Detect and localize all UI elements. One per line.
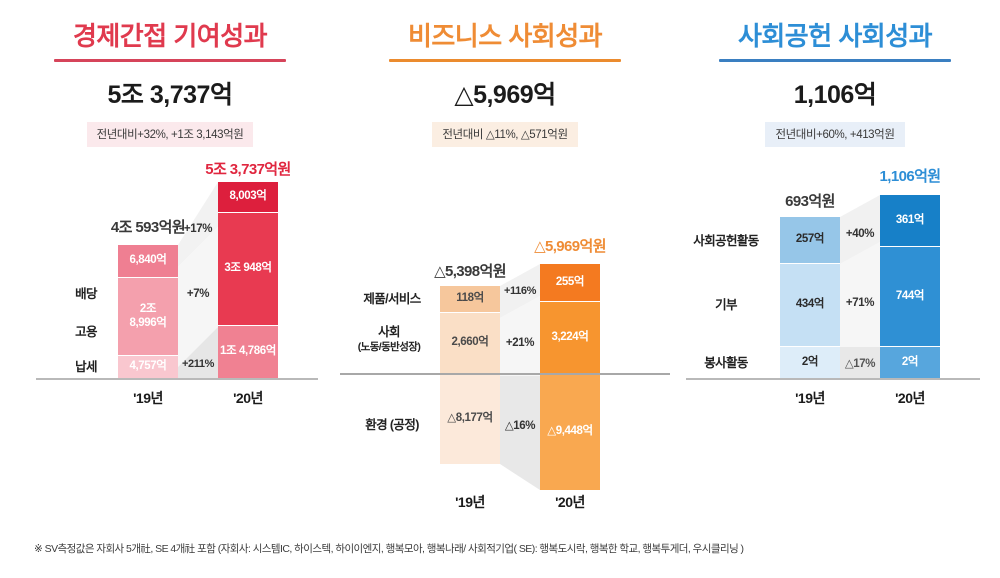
bar-curr-value-1: 3,224억 xyxy=(552,331,589,345)
growth-label-0: +40% xyxy=(840,228,880,240)
chart-business: 118억 2,660억 △8,177억 255억 3,224억 △9,448억 … xyxy=(340,0,670,520)
year-label-curr: '20년 xyxy=(218,388,278,408)
category-label-0: 제품/서비스 xyxy=(346,292,438,308)
bar-prev-value-0: 257억 xyxy=(796,233,824,247)
total-curr-label: 1,106억원 xyxy=(840,165,980,186)
chart-economic: 6,840억 2조8,996억 4,757억 8,003억 3조 948억 1조… xyxy=(0,0,340,520)
bar-prev-value-1: 2,660억 xyxy=(452,336,489,350)
panel-economic-indirect: 경제간접 기여성과 5조 3,737억 전년대비+32%, +1조 3,143억… xyxy=(0,0,340,520)
bar-curr-value-0: 8,003억 xyxy=(230,190,267,204)
bar-prev-seg-1: 2,660억 xyxy=(440,313,500,373)
year-label-prev: '19년 xyxy=(440,492,500,512)
growth-label-1: +71% xyxy=(840,297,880,309)
bar-prev-value-0: 6,840억 xyxy=(130,254,167,268)
category-label-1-sub: (노동/동반성장) xyxy=(340,341,438,354)
total-prev-label: 693억원 xyxy=(740,190,880,211)
category-label-1: 기부 xyxy=(676,298,776,314)
bar-curr-value-2: 2억 xyxy=(902,356,918,370)
year-label-prev: '19년 xyxy=(780,388,840,408)
bar-curr-seg-0: 8,003억 xyxy=(218,182,278,213)
bar-curr-seg-1: 3조 948억 xyxy=(218,213,278,326)
bar-prev-seg-2: 4,757억 xyxy=(118,356,178,378)
bar-prev-value-2: △8,177억 xyxy=(447,412,492,426)
category-label-1: 고용 xyxy=(58,325,114,341)
bar-curr-value-1: 744억 xyxy=(896,290,924,304)
total-prev-label: △5,398억원 xyxy=(400,260,540,281)
connector-band xyxy=(840,195,880,378)
growth-label-0: +116% xyxy=(496,285,544,297)
total-curr-label: △5,969억원 xyxy=(500,235,640,256)
connector-band xyxy=(500,264,540,490)
bar-curr-seg-0: 361억 xyxy=(880,195,940,247)
year-label-prev: '19년 xyxy=(118,388,178,408)
total-curr-label: 5조 3,737억원 xyxy=(178,158,318,179)
growth-label-2: △17% xyxy=(840,356,880,370)
bar-prev-seg-2: 2억 xyxy=(780,347,840,378)
category-label-0: 배당 xyxy=(58,287,114,303)
year-label-curr: '20년 xyxy=(880,388,940,408)
bar-curr-seg-2: 1조 4,786억 xyxy=(218,326,278,378)
bar-prev-value-1: 434억 xyxy=(796,298,824,312)
growth-label-1: +7% xyxy=(178,288,218,300)
bar-curr-seg-1: 744억 xyxy=(880,247,940,347)
footnote: ※ SV측정값은 자회사 5개社, SE 4개社 포함 (자회사: 시스템IC,… xyxy=(34,541,984,556)
bar-curr-value-1: 3조 948억 xyxy=(224,262,271,276)
growth-label-2: △16% xyxy=(500,418,540,432)
bar-curr-value-2: △9,448억 xyxy=(547,425,592,439)
axis-zero-line xyxy=(340,373,670,375)
bar-curr-seg-2: △9,448억 xyxy=(540,374,600,490)
bar-prev-value-2: 4,757억 xyxy=(130,360,167,374)
infographic-panels: 경제간접 기여성과 5조 3,737억 전년대비+32%, +1조 3,143억… xyxy=(0,0,1000,520)
category-label-1: 사회 (노동/동반성장) xyxy=(340,325,438,354)
category-label-1-main: 사회 xyxy=(378,325,400,339)
bar-prev-seg-0: 118억 xyxy=(440,286,500,313)
total-prev-label: 4조 593억원 xyxy=(78,216,218,237)
chart-social: 257억 434억 2억 361억 744억 2억 +40% +71% △17%… xyxy=(670,0,1000,520)
bar-curr-value-2: 1조 4,786억 xyxy=(220,345,276,359)
category-label-2: 환경 (공정) xyxy=(346,418,438,434)
axis-baseline xyxy=(36,378,318,380)
bar-curr-seg-0: 255억 xyxy=(540,264,600,302)
bar-prev-seg-0: 6,840억 xyxy=(118,245,178,278)
year-label-curr: '20년 xyxy=(540,492,600,512)
connector-band xyxy=(178,182,218,378)
category-label-0: 사회공헌활동 xyxy=(676,234,776,250)
growth-label-2: +211% xyxy=(176,358,220,370)
axis-baseline xyxy=(686,378,980,380)
bar-prev-seg-1: 2조8,996억 xyxy=(118,278,178,356)
panel-business-social: 비즈니스 사회성과 △5,969억 전년대비 △11%, △571억원 118억… xyxy=(340,0,670,520)
bar-prev-value-2: 2억 xyxy=(802,356,818,370)
bar-prev-value-0: 118억 xyxy=(456,292,484,306)
panel-social-contribution: 사회공헌 사회성과 1,106억 전년대비+60%, +413억원 257억 4… xyxy=(670,0,1000,520)
category-label-2: 납세 xyxy=(58,360,114,376)
bar-prev-seg-1: 434억 xyxy=(780,264,840,347)
bar-curr-value-0: 361억 xyxy=(896,214,924,228)
bar-prev-seg-0: 257억 xyxy=(780,217,840,264)
bar-prev-seg-2: △8,177억 xyxy=(440,374,500,464)
bar-prev-value-1: 2조8,996억 xyxy=(130,303,167,329)
growth-label-1: +21% xyxy=(500,337,540,349)
bar-curr-seg-1: 3,224억 xyxy=(540,302,600,373)
category-label-2: 봉사활동 xyxy=(676,356,776,372)
bar-curr-seg-2: 2억 xyxy=(880,347,940,378)
bar-curr-value-0: 255억 xyxy=(556,276,584,290)
